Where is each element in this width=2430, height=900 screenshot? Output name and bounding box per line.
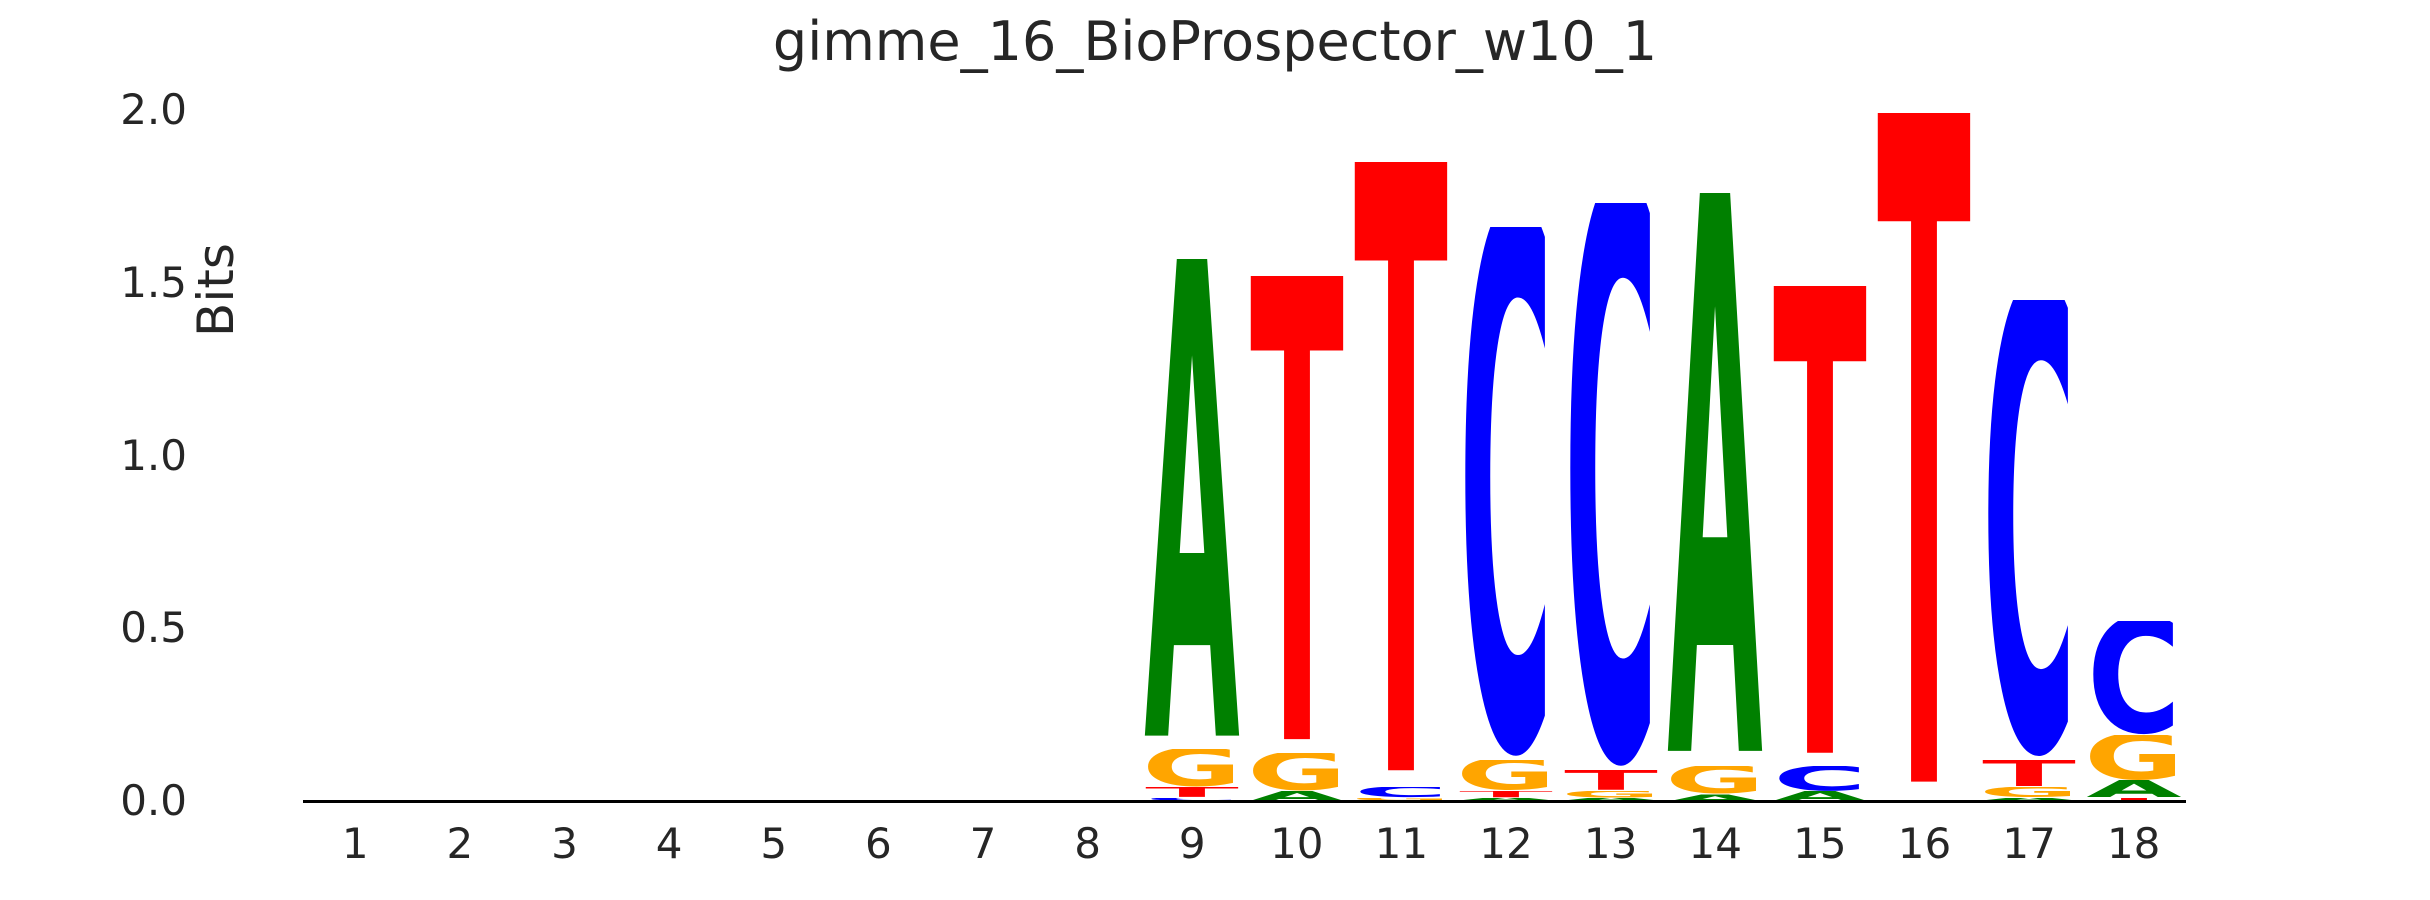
x-tick-label: 5 xyxy=(719,822,829,866)
x-tick-label: 3 xyxy=(510,822,620,866)
logo-stack: CTGA xyxy=(1981,300,2077,801)
logo-letter-g: G xyxy=(1981,787,2077,797)
logo-letter-c: C xyxy=(1981,300,2077,760)
x-tick-label: 13 xyxy=(1556,822,1666,866)
y-tick-label: 0.5 xyxy=(47,607,187,649)
x-tick-label: 10 xyxy=(1242,822,1352,866)
y-tick-label: 0.0 xyxy=(47,780,187,822)
logo-letter-g: G xyxy=(1144,749,1240,787)
logo-letter-g: G xyxy=(2086,735,2182,780)
x-tick-label: 11 xyxy=(1346,822,1456,866)
logo-letter-c: C xyxy=(1458,227,1554,759)
logo-letter-a: A xyxy=(1667,193,1763,767)
logo-stack: T xyxy=(1876,113,1972,801)
logo-letter-g: G xyxy=(1458,760,1554,791)
logo-plot-area: AGTCTGATCGCGTACTGAAGATCATCTGACGAT xyxy=(303,110,2186,801)
logo-letter-c: C xyxy=(1772,766,1868,790)
x-tick-label: 16 xyxy=(1869,822,1979,866)
x-tick-label: 8 xyxy=(1033,822,1143,866)
y-axis-label: Bits xyxy=(186,140,246,440)
chart-title: gimme_16_BioProspector_w10_1 xyxy=(0,10,2430,73)
logo-letter-c: C xyxy=(2086,621,2182,735)
logo-letter-g: G xyxy=(1667,766,1763,794)
x-tick-label: 15 xyxy=(1765,822,1875,866)
x-tick-label: 2 xyxy=(405,822,515,866)
y-tick-label: 2.0 xyxy=(47,89,187,131)
logo-letter-g: G xyxy=(1563,791,1659,798)
y-tick-label: 1.0 xyxy=(47,435,187,477)
x-tick-label: 9 xyxy=(1137,822,1247,866)
x-tick-label: 6 xyxy=(823,822,933,866)
logo-letter-a: A xyxy=(1144,259,1240,750)
logo-stack: TCA xyxy=(1772,286,1868,801)
logo-letter-t: T xyxy=(1249,276,1345,753)
logo-letter-t: T xyxy=(1458,791,1554,798)
logo-letter-c: C xyxy=(1563,203,1659,770)
x-axis-spine xyxy=(303,800,2186,803)
logo-letter-a: A xyxy=(2086,780,2182,797)
sequence-logo-figure: gimme_16_BioProspector_w10_1 Bits 0.00.5… xyxy=(0,0,2430,900)
x-tick-label: 12 xyxy=(1451,822,1561,866)
x-tick-label: 7 xyxy=(928,822,1038,866)
logo-letter-t: T xyxy=(1353,162,1449,787)
logo-stack: CTGA xyxy=(1563,203,1659,801)
logo-stack: CGAT xyxy=(2086,621,2182,801)
logo-stack: CGTA xyxy=(1458,227,1554,801)
logo-letter-t: T xyxy=(1981,760,2077,788)
x-tick-label: 18 xyxy=(2079,822,2189,866)
logo-letter-t: T xyxy=(1563,770,1659,791)
logo-letter-c: C xyxy=(1353,787,1449,797)
logo-letter-t: T xyxy=(1876,113,1972,801)
logo-stack: TCG xyxy=(1353,162,1449,801)
y-tick-label: 1.5 xyxy=(47,262,187,304)
x-tick-label: 17 xyxy=(1974,822,2084,866)
logo-stack: AGTC xyxy=(1144,259,1240,801)
logo-letter-g: G xyxy=(1249,753,1345,791)
logo-stack: TGA xyxy=(1249,276,1345,801)
x-tick-label: 14 xyxy=(1660,822,1770,866)
logo-letter-t: T xyxy=(1772,286,1868,766)
x-tick-label: 1 xyxy=(300,822,410,866)
x-tick-label: 4 xyxy=(614,822,724,866)
logo-stack: AGA xyxy=(1667,193,1763,801)
logo-letter-t: T xyxy=(1144,787,1240,797)
